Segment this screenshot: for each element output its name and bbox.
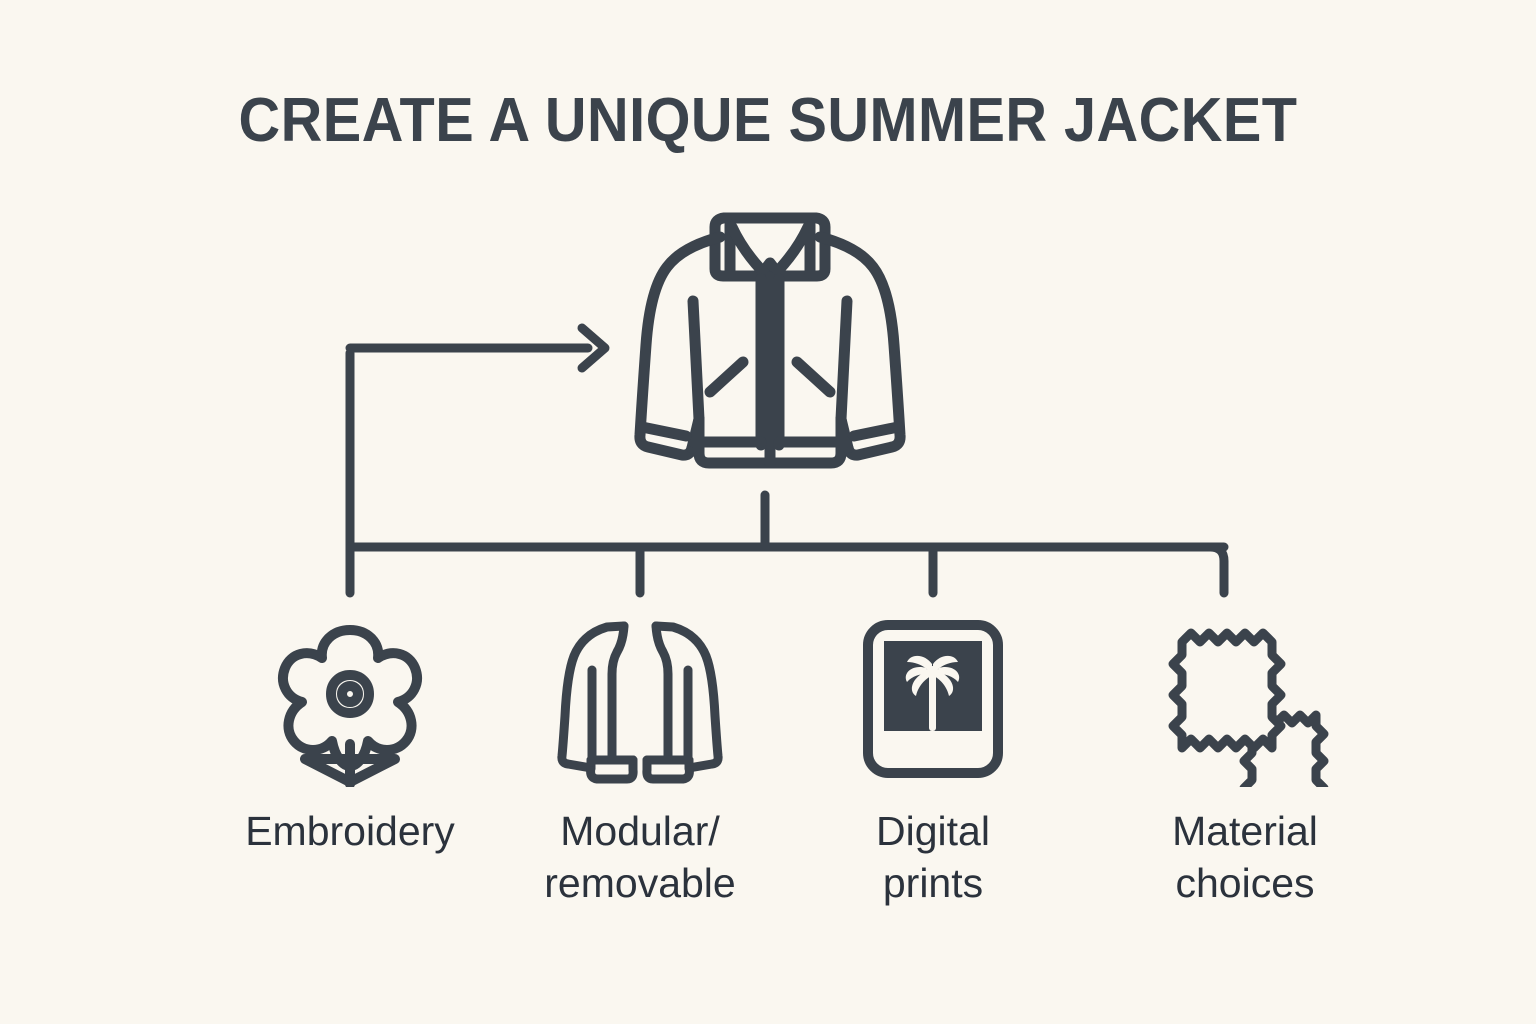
- branch-modular[interactable]: Modular/ removable: [525, 612, 755, 909]
- branch-label-material: Material choices: [1130, 805, 1360, 909]
- open-jacket-glyph: [555, 612, 725, 787]
- flower-icon: [265, 612, 435, 787]
- open-jacket-icon: [555, 612, 725, 787]
- flower-glyph: [265, 612, 435, 787]
- infographic-canvas: CREATE A UNIQUE SUMMER JACKET: [0, 0, 1536, 1024]
- branch-embroidery[interactable]: Embroidery: [235, 612, 465, 857]
- photo-palm-glyph: [857, 612, 1009, 787]
- branch-label-embroidery: Embroidery: [235, 805, 465, 857]
- branch-digital[interactable]: Digital prints: [818, 612, 1048, 909]
- branch-label-digital: Digital prints: [818, 805, 1048, 909]
- photo-palm-icon: [857, 612, 1009, 787]
- fabric-swatches-glyph: [1160, 612, 1330, 787]
- branch-label-modular: Modular/ removable: [525, 805, 755, 909]
- connector-lines: [320, 320, 1290, 620]
- connector-glyph: [320, 320, 1290, 620]
- branch-material[interactable]: Material choices: [1130, 612, 1360, 909]
- diagram-stage: Embroidery: [0, 0, 1536, 1024]
- fabric-swatches-icon: [1160, 612, 1330, 787]
